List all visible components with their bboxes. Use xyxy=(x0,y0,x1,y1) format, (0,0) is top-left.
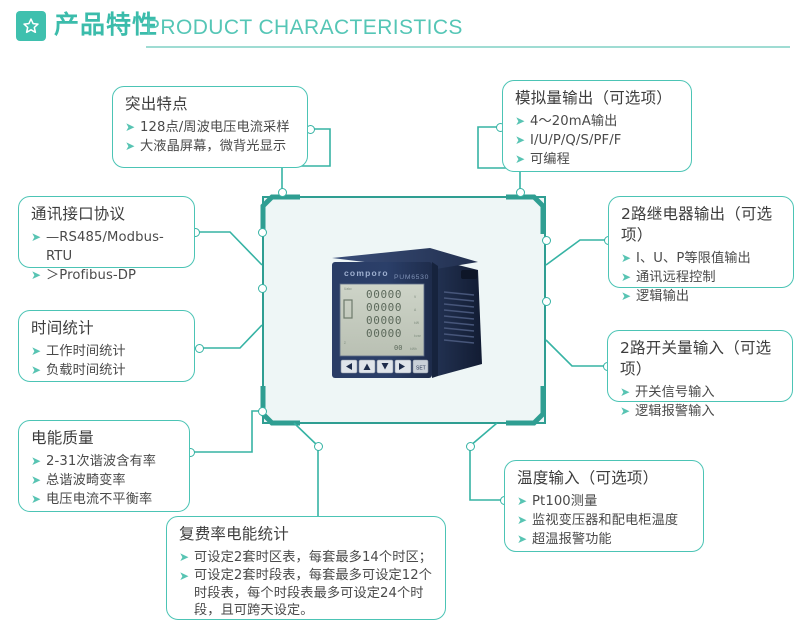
bullet-icon: ➤ xyxy=(179,567,189,586)
svg-text:00000: 00000 xyxy=(366,301,402,314)
svg-text:comporo: comporo xyxy=(344,268,389,278)
bullet-icon: ➤ xyxy=(31,342,41,361)
list-item: ➤逻辑输出 xyxy=(621,287,783,306)
callout-title: 突出特点 xyxy=(125,94,297,115)
list-item: ➤—RS485/Modbus-RTU xyxy=(31,228,184,266)
list-item-text: 监视变压器和配电柜温度 xyxy=(532,513,678,528)
list-item: ➤I/U/P/Q/S/PF/F xyxy=(515,131,681,150)
connector-node xyxy=(542,297,551,306)
callout-list: ➤128点/周波电压电流采样 ➤大液晶屏幕，微背光显示 xyxy=(125,118,297,156)
callout-title: 复费率电能统计 xyxy=(179,524,435,545)
list-item: ➤可编程 xyxy=(515,150,681,169)
bullet-icon: ➤ xyxy=(31,490,41,509)
svg-text:kW: kW xyxy=(414,321,420,325)
list-item-text: 可设定2套时段表，每套最多可设定12个时段表，每个时段表最多可设定24个时段，且… xyxy=(194,568,432,618)
list-item-text: 电压电流不平衡率 xyxy=(46,492,152,507)
list-item-text: 可编程 xyxy=(530,152,570,167)
callout-title: 温度输入（可选项） xyxy=(517,468,693,489)
bullet-icon: ➤ xyxy=(31,361,41,380)
bullet-icon: ➤ xyxy=(621,249,631,268)
callout-list: ➤—RS485/Modbus-RTU ➤＞Profibus-DP xyxy=(31,228,184,285)
list-item-text: 128点/周波电压电流采样 xyxy=(140,120,290,135)
svg-text:Uabc: Uabc xyxy=(344,287,352,291)
connector-node xyxy=(195,344,204,353)
callout-list: ➤工作时间统计 ➤负载时间统计 xyxy=(31,342,184,380)
list-item-text: I/U/P/Q/S/PF/F xyxy=(530,133,621,148)
bullet-icon: ➤ xyxy=(125,137,135,156)
svg-text:00000: 00000 xyxy=(366,327,402,340)
callout-highlight-features[interactable]: 突出特点 ➤128点/周波电压电流采样 ➤大液晶屏幕，微背光显示 xyxy=(112,86,308,168)
list-item-text: 开关信号输入 xyxy=(635,385,715,400)
list-item-text: 负载时间统计 xyxy=(46,363,126,378)
callout-temperature-input[interactable]: 温度输入（可选项） ➤Pt100测量 ➤监视变压器和配电柜温度 ➤超温报警功能 xyxy=(504,460,704,552)
page-header: 产品特性 PRODUCT CHARACTERISTICS xyxy=(0,0,800,56)
list-item: ➤2-31次谐波含有率 xyxy=(31,452,179,471)
callout-list: ➤可设定2套时区表，每套最多14个时区； ➤可设定2套时段表，每套最多可设定12… xyxy=(179,548,435,620)
connector-node xyxy=(314,442,323,451)
list-item: ➤128点/周波电压电流采样 xyxy=(125,118,297,137)
callout-list: ➤开关信号输入 ➤逻辑报警输入 xyxy=(620,383,782,421)
connector-node xyxy=(258,228,267,237)
list-item: ➤通讯远程控制 xyxy=(621,268,783,287)
connector-node xyxy=(466,442,475,451)
list-item-text: 工作时间统计 xyxy=(46,344,126,359)
callout-communication-protocol[interactable]: 通讯接口协议 ➤—RS485/Modbus-RTU ➤＞Profibus-DP xyxy=(18,196,195,268)
bullet-icon: ➤ xyxy=(179,548,189,567)
connector-node xyxy=(542,236,551,245)
bullet-icon: ➤ xyxy=(620,402,630,421)
frame-corner-top-right xyxy=(506,192,548,234)
list-item-text: 2-31次谐波含有率 xyxy=(46,454,156,469)
svg-text:00000: 00000 xyxy=(366,288,402,301)
list-item: ➤Pt100测量 xyxy=(517,492,693,511)
list-item: ➤＞Profibus-DP xyxy=(31,266,184,285)
bullet-icon: ➤ xyxy=(620,383,630,402)
connector-node xyxy=(278,188,287,197)
list-item-text: 可设定2套时区表，每套最多14个时区； xyxy=(194,550,432,565)
connector-node xyxy=(258,284,267,293)
callout-title: 时间统计 xyxy=(31,318,184,339)
bullet-icon: ➤ xyxy=(125,118,135,137)
bullet-icon: ➤ xyxy=(515,150,525,169)
connector-node xyxy=(258,407,267,416)
list-item: ➤4～20mA输出 xyxy=(515,112,681,131)
svg-text:00: 00 xyxy=(394,344,402,352)
connector-node xyxy=(516,188,525,197)
bullet-icon: ➤ xyxy=(517,530,527,549)
list-item: ➤监视变压器和配电柜温度 xyxy=(517,511,693,530)
svg-text:kvar: kvar xyxy=(414,334,422,338)
page-subtitle: PRODUCT CHARACTERISTICS xyxy=(146,14,463,42)
bullet-icon: ➤ xyxy=(517,511,527,530)
list-item: ➤工作时间统计 xyxy=(31,342,184,361)
list-item-text: 逻辑输出 xyxy=(636,289,689,304)
list-item-text: 逻辑报警输入 xyxy=(635,404,715,419)
list-item: ➤I、U、P等限值输出 xyxy=(621,249,783,268)
list-item-text: Pt100测量 xyxy=(532,494,597,509)
list-item-text: —RS485/Modbus-RTU xyxy=(46,230,164,264)
callout-title: 2路开关量输入（可选项） xyxy=(620,338,782,380)
product-image-panel-meter: comporo PUM6530 00000 00000 00000 00000 … xyxy=(318,240,494,390)
list-item-text: 4～20mA输出 xyxy=(530,114,617,129)
page-title: 产品特性 xyxy=(54,9,158,41)
list-item-text: I、U、P等限值输出 xyxy=(636,251,751,266)
callout-list: ➤Pt100测量 ➤监视变压器和配电柜温度 ➤超温报警功能 xyxy=(517,492,693,549)
frame-corner-bottom-right xyxy=(506,386,548,428)
product-characteristics-page: 产品特性 PRODUCT CHARACTERISTICS xyxy=(0,0,800,630)
bullet-icon: ➤ xyxy=(31,228,41,247)
frame-top-line xyxy=(262,196,546,198)
list-item-text: 总谐波畸变率 xyxy=(46,473,126,488)
svg-text:kWh: kWh xyxy=(410,347,417,351)
list-item: ➤可设定2套时区表，每套最多14个时区； xyxy=(179,548,435,567)
list-item: ➤电压电流不平衡率 xyxy=(31,490,179,509)
list-item: ➤开关信号输入 xyxy=(620,383,782,402)
bullet-icon: ➤ xyxy=(517,492,527,511)
svg-text:SET: SET xyxy=(416,366,426,372)
callout-analog-output[interactable]: 模拟量输出（可选项） ➤4～20mA输出 ➤I/U/P/Q/S/PF/F ➤可编… xyxy=(502,80,692,172)
list-item-text: ＞Profibus-DP xyxy=(46,268,136,283)
list-item-text: 通讯远程控制 xyxy=(636,270,716,285)
bullet-icon: ➤ xyxy=(31,471,41,490)
list-item: ➤总谐波畸变率 xyxy=(31,471,179,490)
callout-list: ➤I、U、P等限值输出 ➤通讯远程控制 ➤逻辑输出 xyxy=(621,249,783,306)
callout-list: ➤2-31次谐波含有率 ➤总谐波畸变率 ➤电压电流不平衡率 xyxy=(31,452,179,509)
svg-text:Σ: Σ xyxy=(344,341,346,345)
list-item-text: 大液晶屏幕，微背光显示 xyxy=(140,139,286,154)
callout-list: ➤4～20mA输出 ➤I/U/P/Q/S/PF/F ➤可编程 xyxy=(515,112,681,169)
list-item: ➤超温报警功能 xyxy=(517,530,693,549)
callout-relay-output[interactable]: 2路继电器输出（可选项） ➤I、U、P等限值输出 ➤通讯远程控制 ➤逻辑输出 xyxy=(608,196,794,288)
list-item: ➤逻辑报警输入 xyxy=(620,402,782,421)
bullet-icon: ➤ xyxy=(621,268,631,287)
bullet-icon: ➤ xyxy=(515,112,525,131)
list-item-text: 超温报警功能 xyxy=(532,532,612,547)
callout-power-quality[interactable]: 电能质量 ➤2-31次谐波含有率 ➤总谐波畸变率 ➤电压电流不平衡率 xyxy=(18,420,190,512)
svg-text:00000: 00000 xyxy=(366,314,402,327)
list-item: ➤负载时间统计 xyxy=(31,361,184,380)
svg-text:PUM6530: PUM6530 xyxy=(394,274,429,281)
bullet-icon: ➤ xyxy=(515,131,525,150)
header-divider xyxy=(146,46,790,48)
callout-title: 通讯接口协议 xyxy=(31,204,184,225)
callout-title: 电能质量 xyxy=(31,428,179,449)
list-item: ➤可设定2套时段表，每套最多可设定12个时段表，每个时段表最多可设定24个时段，… xyxy=(179,567,435,620)
bullet-icon: ➤ xyxy=(621,287,631,306)
callout-title: 模拟量输出（可选项） xyxy=(515,88,681,109)
callout-title: 2路继电器输出（可选项） xyxy=(621,204,783,246)
frame-bottom-line xyxy=(262,422,546,424)
list-item: ➤大液晶屏幕，微背光显示 xyxy=(125,137,297,156)
bullet-icon: ➤ xyxy=(31,452,41,471)
callout-digital-input[interactable]: 2路开关量输入（可选项） ➤开关信号输入 ➤逻辑报警输入 xyxy=(607,330,793,402)
callout-time-statistics[interactable]: 时间统计 ➤工作时间统计 ➤负载时间统计 xyxy=(18,310,195,382)
star-badge-icon xyxy=(16,11,46,41)
callout-multi-tariff-energy[interactable]: 复费率电能统计 ➤可设定2套时区表，每套最多14个时区； ➤可设定2套时段表，每… xyxy=(166,516,446,620)
bullet-icon: ➤ xyxy=(31,266,41,285)
